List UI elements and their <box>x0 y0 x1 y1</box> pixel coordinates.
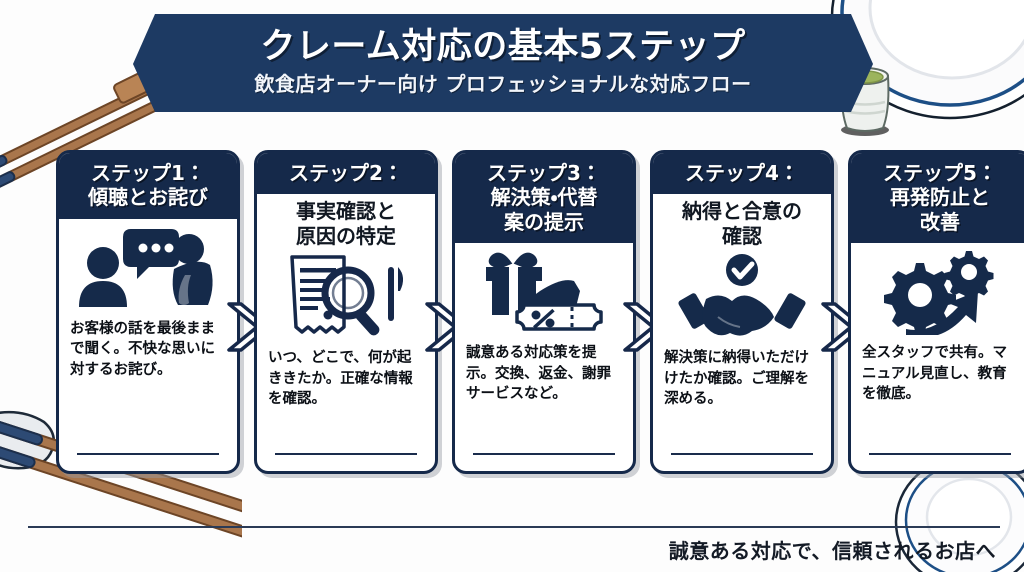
step-4-rule <box>671 453 813 455</box>
step-card-4[interactable]: ステップ4： 納得と合意の 確認 解決策に納得いただけけたか確認。ご理解を深める… <box>650 150 834 474</box>
flow-arrow-2 <box>438 150 452 468</box>
step-card-2[interactable]: ステップ2： 事実確認と 原因の特定 <box>254 150 438 474</box>
step-1-rule <box>77 453 219 455</box>
step-5-title-line2: 改善 <box>857 210 1023 234</box>
step-1-description: お客様の話を最後ままで聞く。不快な思いに対するお詫び。 <box>59 315 237 381</box>
step-4-title: 納得と合意の 確認 <box>653 194 831 248</box>
step-4-description: 解決策に納得いただけけたか確認。ご理解を深める。 <box>653 344 831 410</box>
step-4-label: ステップ4： <box>659 161 825 185</box>
handshake-check-icon <box>653 248 831 344</box>
page-title: クレーム対応の基本5ステップ <box>260 29 745 66</box>
flow-arrow-4 <box>834 150 848 468</box>
step-2-title-line1: 事実確認と <box>263 199 429 223</box>
step-5-rule <box>869 453 1011 455</box>
step-2-header: ステップ2： <box>257 153 435 194</box>
step-1-title: 傾聴とお詫び <box>65 185 231 209</box>
step-3-title-line1: 解決策・代替 <box>461 185 627 209</box>
header-banner: クレーム対応の基本5ステップ 飲食店オーナー向け プロフェッショナルな対応フロー <box>133 14 873 112</box>
footer-divider <box>28 526 1000 528</box>
step-card-3[interactable]: ステップ3： 解決策・代替 案の提示 <box>452 150 636 474</box>
gears-arrow-icon <box>851 243 1024 339</box>
step-2-title: 事実確認と 原因の特定 <box>257 194 435 248</box>
document-magnifier-icon <box>257 248 435 344</box>
step-3-header: ステップ3： 解決策・代替 案の提示 <box>455 153 633 243</box>
step-2-label: ステップ2： <box>263 161 429 185</box>
step-4-title-line1: 納得と合意の <box>659 199 825 223</box>
step-1-header: ステップ1： 傾聴とお詫び <box>59 153 237 219</box>
step-2-title-line2: 原因の特定 <box>263 224 429 248</box>
step-card-1[interactable]: ステップ1： 傾聴とお詫び お客様の話を最後ままで聞く。不快な思いに対するお詫び… <box>56 150 240 474</box>
step-5-label: ステップ5： <box>857 161 1023 185</box>
steps-flow: ステップ1： 傾聴とお詫び お客様の話を最後ままで聞く。不快な思いに対するお詫び… <box>56 150 1004 470</box>
step-3-description: 誠意ある対応策を提示。交換、返金、謝罪サービスなど。 <box>455 339 633 405</box>
listening-apology-icon <box>59 219 237 315</box>
flow-arrow-3 <box>636 150 650 468</box>
gift-coupon-icon <box>455 243 633 339</box>
step-4-header: ステップ4： <box>653 153 831 194</box>
step-2-rule <box>275 453 417 455</box>
step-5-description: 全スタッフで共有。マニュアル見直し、教育を徹底。 <box>851 339 1024 405</box>
step-4-title-line2: 確認 <box>659 224 825 248</box>
step-3-rule <box>473 453 615 455</box>
footer-tagline: 誠意ある対応で、信頼されるお店へ <box>669 535 996 564</box>
infographic-canvas: クレーム対応の基本5ステップ 飲食店オーナー向け プロフェッショナルな対応フロー… <box>0 0 1024 572</box>
step-3-label: ステップ3： <box>461 161 627 185</box>
step-3-title-line2: 案の提示 <box>461 210 627 234</box>
step-5-header: ステップ5： 再発防止と 改善 <box>851 153 1024 243</box>
step-2-description: いつ、どこで、何が起ききたか。正確な情報を確認。 <box>257 344 435 410</box>
page-subtitle: 飲食店オーナー向け プロフェッショナルな対応フロー <box>255 68 752 97</box>
flow-arrow-1 <box>240 150 254 468</box>
step-1-label: ステップ1： <box>65 161 231 185</box>
step-5-title-line1: 再発防止と <box>857 185 1023 209</box>
step-card-5[interactable]: ステップ5： 再発防止と 改善 全スタッフで共有。マニュアル見直 <box>848 150 1024 474</box>
